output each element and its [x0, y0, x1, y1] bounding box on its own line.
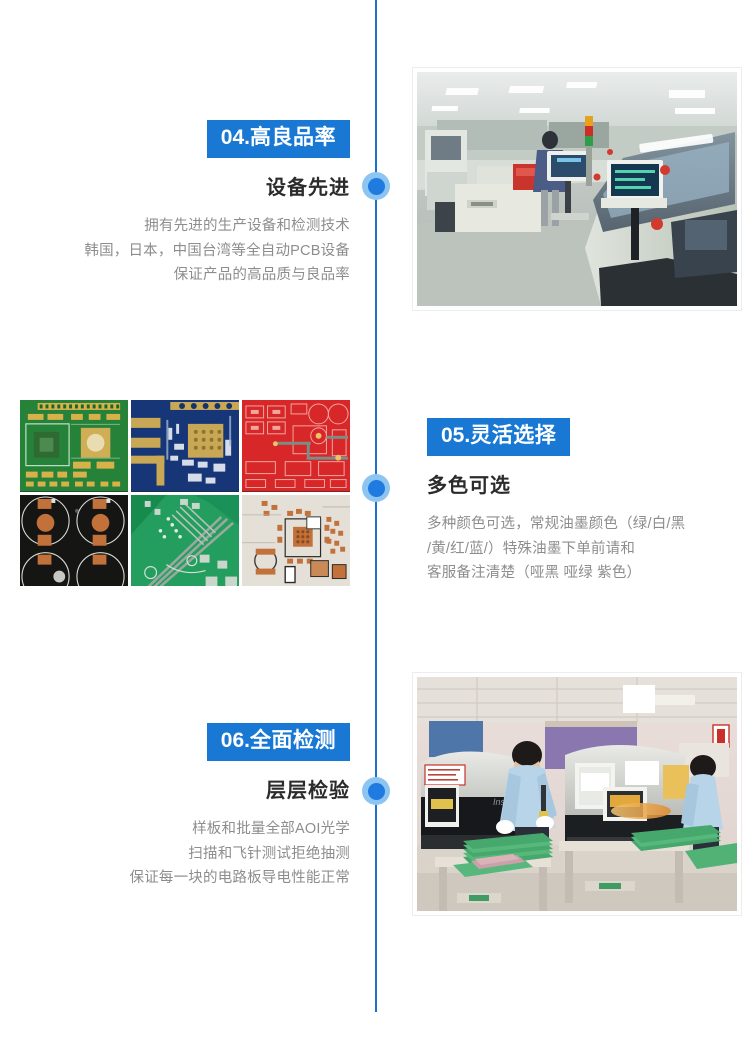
timeline-dot-05	[362, 474, 390, 502]
section-06: 06.全面检测 层层检验 样板和批量全部AOI光学 扫描和飞针测试拒绝抽测 保证…	[20, 723, 350, 890]
section-05-body-line-1: 多种颜色可选，常规油墨颜色（绿/白/黑	[427, 512, 727, 536]
section-04-body-line-1: 拥有先进的生产设备和检测技术	[20, 214, 350, 238]
section-05-body-line-2: /黄/红/蓝/）特殊油墨下单前请和	[427, 537, 727, 561]
timeline-dot-04	[362, 172, 390, 200]
section-06-badge-number: 06.	[221, 729, 250, 752]
section-05-body-line-3: 客服备注清楚（哑黑 哑绿 紫色）	[427, 561, 727, 585]
section-06-subtitle: 层层检验	[20, 779, 350, 803]
section-06-photo-aoi-inspection: Inspecta	[413, 673, 741, 915]
section-06-body-line-2: 扫描和飞针测试拒绝抽测	[20, 842, 350, 866]
section-04: 04.高良品率 设备先进 拥有先进的生产设备和检测技术 韩国，日本，中国台湾等全…	[20, 120, 350, 287]
section-06-badge: 06.全面检测	[207, 723, 350, 761]
section-05-badge: 05.灵活选择	[427, 418, 570, 456]
section-06-body: 样板和批量全部AOI光学 扫描和飞针测试拒绝抽测 保证每一块的电路板导电性能正常	[20, 817, 350, 890]
section-04-badge: 04.高良品率	[207, 120, 350, 158]
pcb-tile-red-pcb-board	[242, 400, 350, 492]
section-05-body: 多种颜色可选，常规油墨颜色（绿/白/黑 /黄/红/蓝/）特殊油墨下单前请和 客服…	[427, 512, 727, 585]
section-04-badge-title: 高良品率	[250, 126, 336, 149]
section-04-subtitle: 设备先进	[20, 176, 350, 200]
section-04-body-line-3: 保证产品的高品质与良品率	[20, 263, 350, 287]
pcb-tile-blue-pcb-module	[131, 400, 239, 492]
section-04-body-line-2: 韩国，日本，中国台湾等全自动PCB设备	[20, 239, 350, 263]
pcb-tile-green-pcb-trace	[131, 495, 239, 587]
section-04-photo-production-line	[413, 68, 741, 310]
section-06-body-line-1: 样板和批量全部AOI光学	[20, 817, 350, 841]
timeline-vertical-line	[375, 0, 377, 1012]
section-06-body-line-3: 保证每一块的电路板导电性能正常	[20, 866, 350, 890]
section-06-badge-title: 全面检测	[250, 729, 336, 752]
pcb-tile-white-pcb-smt	[242, 495, 350, 587]
section-05-badge-title: 灵活选择	[470, 424, 556, 447]
timeline-dot-06	[362, 777, 390, 805]
section-05: 05.灵活选择 多色可选 多种颜色可选，常规油墨颜色（绿/白/黑 /黄/红/蓝/…	[427, 418, 727, 585]
section-04-badge-number: 04.	[221, 126, 250, 149]
section-05-pcb-color-grid	[20, 400, 350, 586]
section-05-subtitle: 多色可选	[427, 474, 727, 498]
pcb-tile-black-pcb-led	[20, 495, 128, 587]
pcb-tile-green-pcb-board	[20, 400, 128, 492]
section-05-badge-number: 05.	[441, 424, 470, 447]
section-04-body: 拥有先进的生产设备和检测技术 韩国，日本，中国台湾等全自动PCB设备 保证产品的…	[20, 214, 350, 287]
